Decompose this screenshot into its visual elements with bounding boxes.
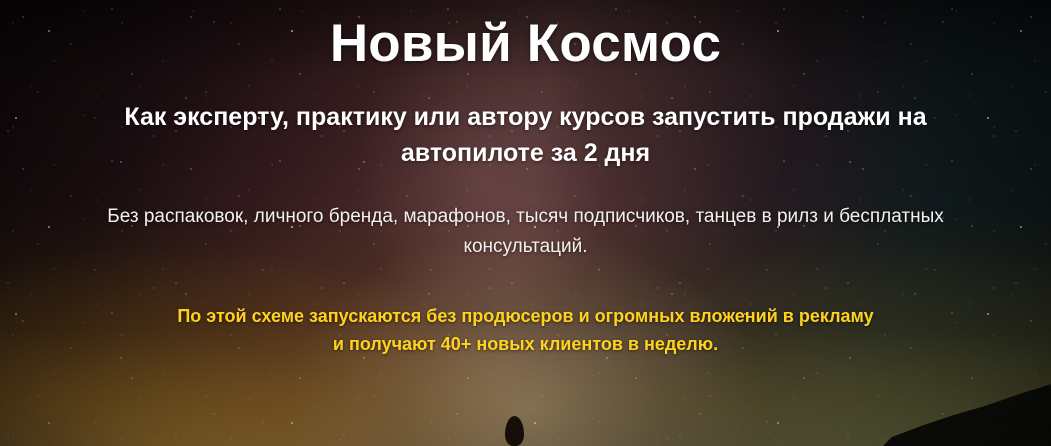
hero-highlight-line-2: и получают 40+ новых клиентов в неделю.	[106, 331, 946, 359]
hero-subtitle: Как эксперту, практику или автору курсов…	[76, 73, 976, 171]
hero-body-text: Без распаковок, личного бренда, марафоно…	[86, 171, 966, 261]
hero-highlight-line-1: По этой схеме запускаются без продюсеров…	[106, 303, 946, 331]
hero-banner: Новый Космос Как эксперту, практику или …	[0, 0, 1051, 446]
hero-highlight-text: По этой схеме запускаются без продюсеров…	[106, 261, 946, 359]
hero-content: Новый Космос Как эксперту, практику или …	[0, 0, 1051, 446]
page-title: Новый Космос	[0, 0, 1051, 73]
